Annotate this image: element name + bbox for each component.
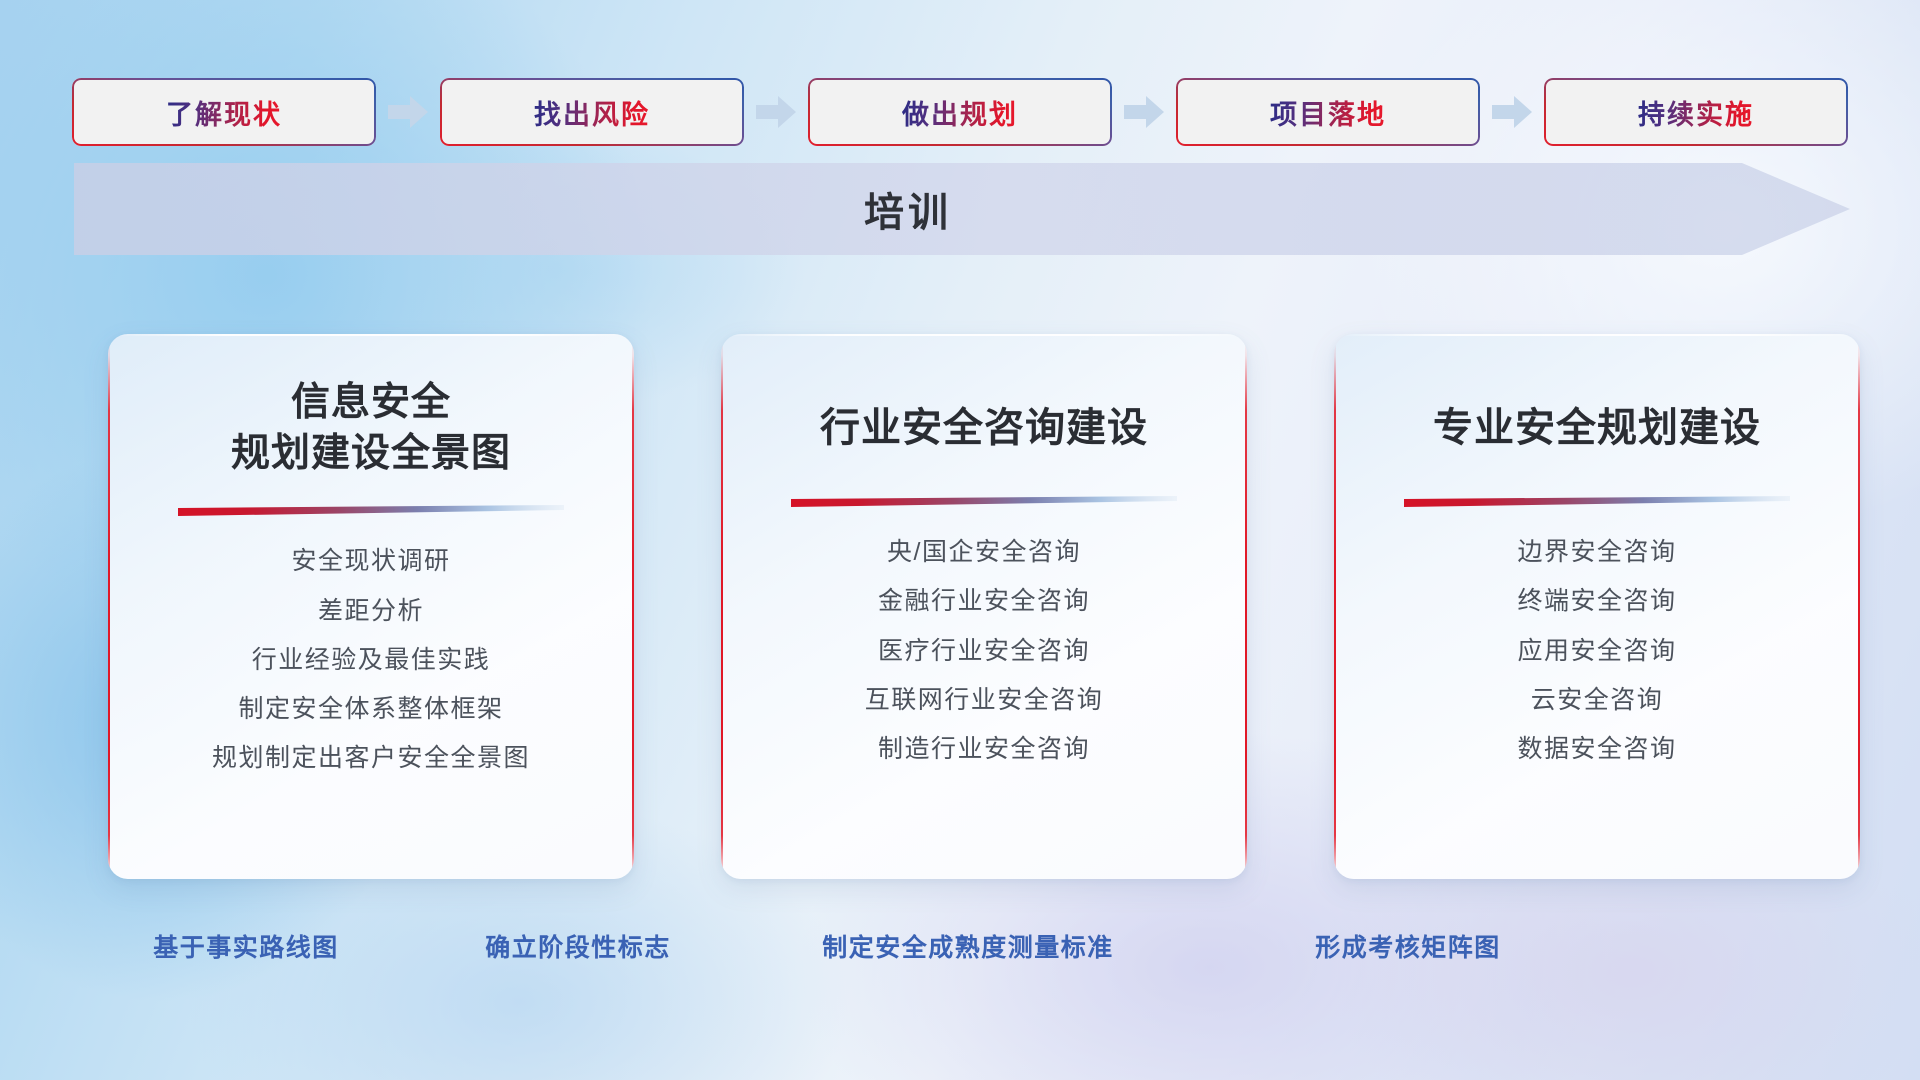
process-arrow-4 xyxy=(1480,96,1544,128)
service-card-group: 信息安全 规划建设全景图 xyxy=(108,334,1860,879)
footer-label-1: 基于事实路线图 xyxy=(153,928,339,964)
process-step-2[interactable]: 找出风险 xyxy=(440,78,744,146)
card-list-item: 差距分析 xyxy=(318,596,424,627)
card-list-item: 规划制定出客户安全全景图 xyxy=(212,743,530,774)
footer-label-row: 基于事实路线图 确立阶段性标志 制定安全成熟度测量标准 形成考核矩阵图 xyxy=(0,928,1920,968)
process-step-3[interactable]: 做出规划 xyxy=(808,78,1112,146)
process-arrow-3 xyxy=(1112,96,1176,128)
card-list-item: 安全现状调研 xyxy=(291,546,450,577)
footer-label-2: 确立阶段性标志 xyxy=(485,928,671,964)
card-list-item: 应用安全咨询 xyxy=(1517,636,1676,667)
service-card-2[interactable]: 行业安全咨询建设 xyxy=(721,334,1247,879)
process-step-label: 找出风险 xyxy=(534,93,650,132)
card-list-item: 金融行业安全咨询 xyxy=(878,586,1090,617)
card-title: 信息安全 规划建设全景图 xyxy=(231,378,511,479)
process-step-label: 了解现状 xyxy=(166,93,282,132)
card-list-item: 制定安全体系整体框架 xyxy=(238,694,503,725)
service-card-3[interactable]: 专业安全规划建设 xyxy=(1334,334,1860,879)
process-step-label: 项目落地 xyxy=(1270,93,1386,132)
service-card-1[interactable]: 信息安全 规划建设全景图 xyxy=(108,334,634,879)
process-step-4[interactable]: 项目落地 xyxy=(1176,78,1480,146)
card-item-list: 安全现状调研 差距分析 行业经验及最佳实践 制定安全体系整体框架 规划制定出客户… xyxy=(212,546,530,774)
card-item-list: 央/国企安全咨询 金融行业安全咨询 医疗行业安全咨询 互联网行业安全咨询 制造行… xyxy=(865,537,1104,765)
card-list-item: 行业经验及最佳实践 xyxy=(252,645,491,676)
process-step-5[interactable]: 持续实施 xyxy=(1544,78,1848,146)
card-list-item: 边界安全咨询 xyxy=(1517,537,1676,568)
footer-label-3: 制定安全成熟度测量标准 xyxy=(822,928,1114,964)
card-title-line: 行业安全咨询建设 xyxy=(820,402,1148,454)
card-list-item: 终端安全咨询 xyxy=(1517,586,1676,617)
card-title-line: 专业安全规划建设 xyxy=(1433,402,1761,454)
footer-label-4: 形成考核矩阵图 xyxy=(1315,928,1501,964)
card-list-item: 互联网行业安全咨询 xyxy=(865,685,1104,716)
banner-title: 培训 xyxy=(74,163,1850,255)
card-list-item: 央/国企安全咨询 xyxy=(887,537,1081,568)
card-list-item: 云安全咨询 xyxy=(1531,685,1664,716)
card-divider xyxy=(1404,496,1790,507)
card-divider xyxy=(791,496,1177,507)
process-arrow-2 xyxy=(744,96,808,128)
training-banner: 培训 xyxy=(74,163,1850,255)
card-title: 行业安全咨询建设 xyxy=(820,402,1148,454)
process-step-1[interactable]: 了解现状 xyxy=(72,78,376,146)
process-step-label: 做出规划 xyxy=(902,93,1018,132)
process-arrow-1 xyxy=(376,96,440,128)
card-item-list: 边界安全咨询 终端安全咨询 应用安全咨询 云安全咨询 数据安全咨询 xyxy=(1517,537,1676,765)
card-divider xyxy=(178,505,564,516)
card-list-item: 制造行业安全咨询 xyxy=(878,734,1090,765)
card-title: 专业安全规划建设 xyxy=(1433,402,1761,454)
card-list-item: 数据安全咨询 xyxy=(1517,734,1676,765)
card-list-item: 医疗行业安全咨询 xyxy=(878,636,1090,667)
process-step-label: 持续实施 xyxy=(1638,93,1754,132)
card-title-line: 规划建设全景图 xyxy=(231,429,511,480)
card-title-line: 信息安全 xyxy=(231,378,511,429)
process-step-row: 了解现状 找出风险 做出规划 项目落地 xyxy=(72,78,1848,146)
